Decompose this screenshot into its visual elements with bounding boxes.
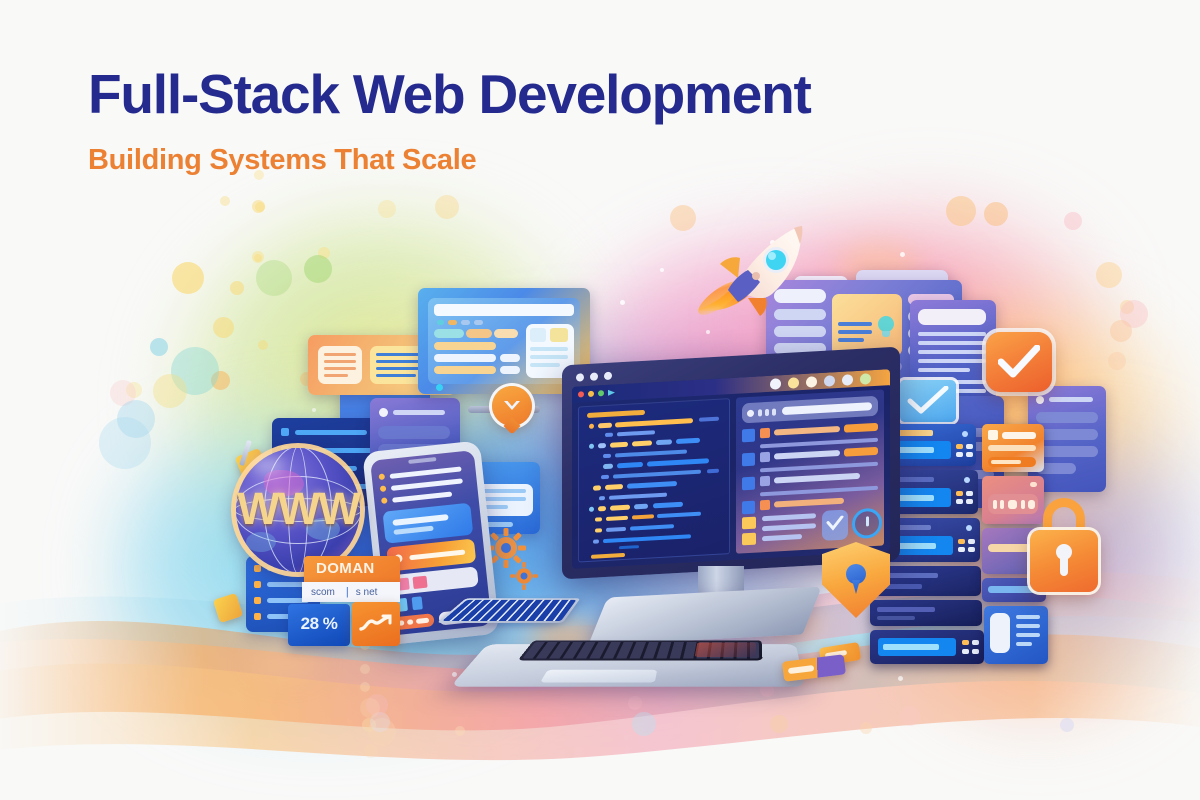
bokeh-dot <box>378 200 396 218</box>
hero-banner: Full-Stack Web Development Building Syst… <box>0 0 1200 800</box>
trend-card <box>352 602 400 646</box>
bokeh-dot <box>770 715 788 733</box>
check-badge-orange[interactable] <box>986 332 1052 392</box>
bokeh-dot <box>1060 718 1074 732</box>
bokeh-dot <box>360 682 370 692</box>
domain-tld-row: scom | s net <box>302 582 400 602</box>
bokeh-dot <box>255 202 265 212</box>
tld-left: scom <box>311 587 335 598</box>
bokeh-dot <box>360 698 380 718</box>
bokeh-dot <box>1096 262 1122 288</box>
bokeh-dot <box>153 374 187 408</box>
bokeh-dot <box>946 196 976 226</box>
server-side-card <box>982 424 1044 472</box>
bokeh-dot <box>435 195 459 219</box>
laptop <box>470 592 830 710</box>
bokeh-dot <box>99 417 151 469</box>
sparkle <box>452 672 457 677</box>
lock-keyhole-stem <box>1060 556 1068 576</box>
sparkle <box>900 252 905 257</box>
stat-badge: 28 % <box>288 604 350 646</box>
trend-arrow-icon <box>359 614 393 634</box>
bokeh-dot <box>172 262 204 294</box>
bokeh-dot <box>150 338 168 356</box>
bokeh-dot <box>360 664 370 674</box>
bokeh-dot <box>256 260 292 296</box>
sparkle <box>620 300 625 305</box>
stat-badge-value: 28 % <box>288 614 350 634</box>
bokeh-dot <box>1110 320 1132 342</box>
padlock-badge[interactable] <box>1022 498 1106 604</box>
bokeh-dot <box>1064 212 1082 230</box>
code-pane <box>578 398 730 562</box>
bokeh-dot <box>220 196 230 206</box>
bokeh-dot <box>364 744 378 758</box>
shield-badge[interactable] <box>822 542 890 618</box>
www-globe: WWW <box>236 448 360 572</box>
preview-pane <box>736 389 884 553</box>
status-dot <box>436 384 443 391</box>
domain-card-title: DOMAN <box>316 560 375 577</box>
check-badge-cyan[interactable] <box>900 380 956 422</box>
bokeh-dot <box>900 706 920 726</box>
bokeh-dot <box>304 255 332 283</box>
sparkle <box>660 268 664 272</box>
glow-spot <box>250 648 320 678</box>
bokeh-dot <box>254 254 262 262</box>
bokeh-dot <box>860 722 872 734</box>
card-thumb <box>318 346 362 384</box>
check-icon <box>998 345 1040 379</box>
chevron-down-icon <box>501 397 523 415</box>
gear-icon <box>510 562 538 590</box>
bokeh-dot <box>455 726 465 736</box>
domain-card-group: DOMAN scom | s net 28 % <box>288 556 400 648</box>
check-icon <box>826 516 844 533</box>
tld-divider: | <box>346 586 349 598</box>
www-label: WWW <box>236 483 360 535</box>
lightbulb-icon <box>876 316 896 338</box>
sparkle <box>898 676 903 681</box>
rocket-icon <box>690 212 820 322</box>
page-subtitle: Building Systems That Scale <box>88 144 811 177</box>
page-title: Full-Stack Web Development <box>88 66 811 124</box>
sparkle <box>706 330 710 334</box>
bokeh-dot <box>213 317 234 338</box>
bokeh-dot <box>984 202 1008 226</box>
check-icon <box>907 386 949 416</box>
bokeh-dot <box>1108 352 1126 370</box>
clock-icon <box>852 508 882 540</box>
server-side-card <box>984 606 1048 664</box>
header-block: Full-Stack Web Development Building Syst… <box>88 66 811 177</box>
sparkle <box>312 408 316 412</box>
code-editor-screen <box>572 369 890 569</box>
chevron-badge[interactable] <box>492 386 532 432</box>
domain-card-header: DOMAN <box>304 556 400 582</box>
browser-urlbar <box>434 304 574 316</box>
tld-right: s net <box>356 587 378 598</box>
bokeh-dot <box>632 712 656 736</box>
bokeh-dot <box>258 340 268 350</box>
bokeh-dot <box>230 281 244 295</box>
